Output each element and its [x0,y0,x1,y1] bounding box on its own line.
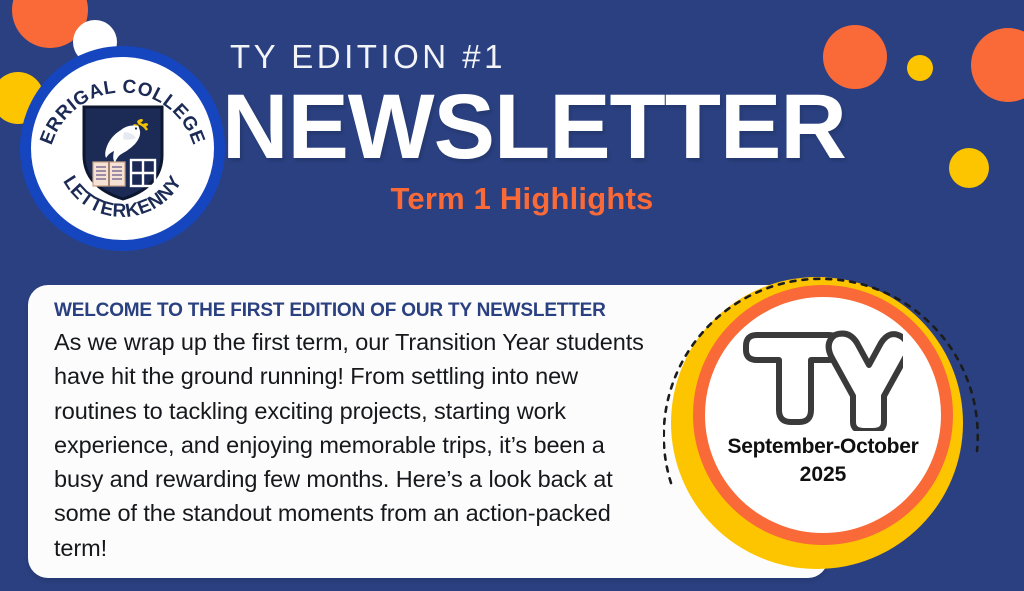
badge-year: 2025 [800,463,847,487]
page-subtitle: Term 1 Highlights [216,181,828,217]
orange-circle-top-right [971,28,1024,102]
badge-orange-ring: September-October 2025 [693,285,953,545]
school-crest-logo: ERRIGAL COLLEGE LETTERKENNY [20,46,225,251]
yellow-circle-right [949,148,989,188]
welcome-card-body: As we wrap up the first term, our Transi… [54,325,654,565]
crest-shield-icon [80,101,166,201]
ty-monogram-icon [743,323,903,431]
yellow-dot-top [907,55,933,81]
badge-month-range: September-October [728,435,919,459]
newsletter-header-banner: ERRIGAL COLLEGE LETTERKENNY [0,0,1024,591]
open-book-icon [93,162,125,186]
edition-label: TY EDITION #1 [230,40,828,73]
page-title: NEWSLETTER [222,81,828,175]
ty-date-badge: September-October 2025 [663,255,993,585]
headline-block: TY EDITION #1 NEWSLETTER Term 1 Highligh… [228,40,828,217]
